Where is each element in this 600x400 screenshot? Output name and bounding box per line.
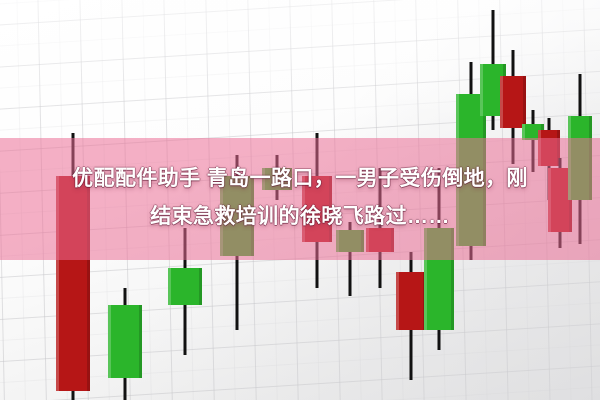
banner-image: 优配配件助手 青岛一路口，一男子受伤倒地，刚 结束急救培训的徐晓飞路过……	[0, 0, 600, 400]
caption-text: 优配配件助手 青岛一路口，一男子受伤倒地，刚 结束急救培训的徐晓飞路过……	[0, 160, 600, 236]
candlestick-body-up	[108, 305, 142, 378]
caption-line-2: 结束急救培训的徐晓飞路过……	[0, 198, 600, 236]
candlestick-body-up	[168, 268, 202, 305]
caption-line-1: 优配配件助手 青岛一路口，一男子受伤倒地，刚	[0, 160, 600, 198]
candlestick-body-down	[396, 272, 426, 330]
